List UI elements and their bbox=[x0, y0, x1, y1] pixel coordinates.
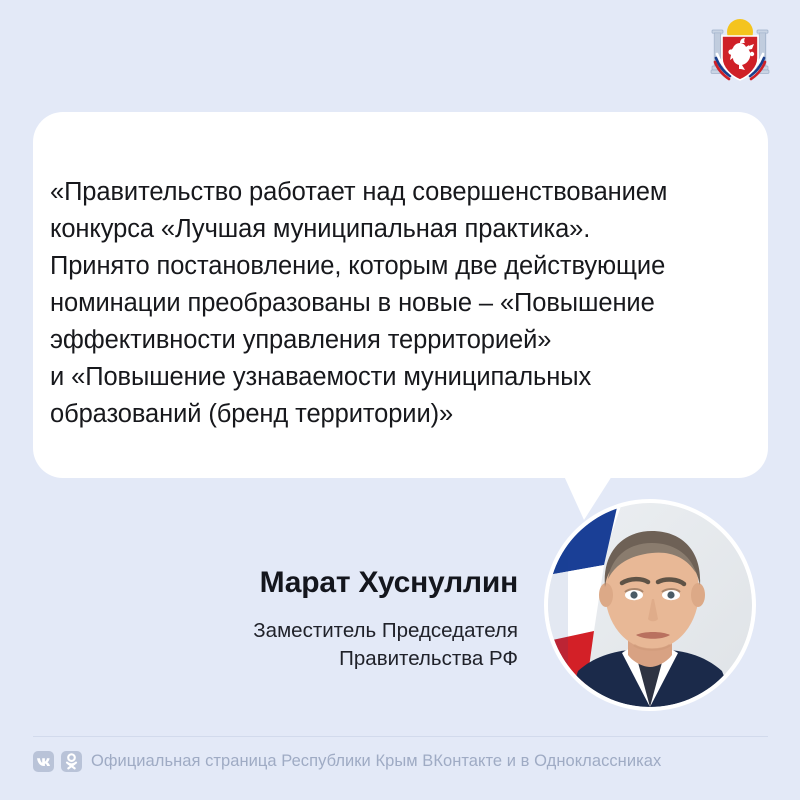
coat-of-arms-of-crimea-icon bbox=[704, 14, 776, 86]
footer: Официальная страница Республики Крым ВКо… bbox=[33, 751, 661, 772]
vk-icon[interactable] bbox=[33, 751, 54, 772]
footer-divider bbox=[33, 736, 768, 737]
quote-text: «Правительство работает над совершенство… bbox=[50, 174, 740, 433]
footer-text: Официальная страница Республики Крым ВКо… bbox=[91, 752, 661, 771]
speaker-name: Марат Хуснуллин bbox=[260, 566, 518, 600]
ok-icon[interactable] bbox=[61, 751, 82, 772]
quote-poster: «Правительство работает над совершенство… bbox=[0, 0, 800, 800]
portrait-photo bbox=[544, 499, 756, 711]
speaker-title: Заместитель Председателя Правительства Р… bbox=[253, 617, 518, 673]
